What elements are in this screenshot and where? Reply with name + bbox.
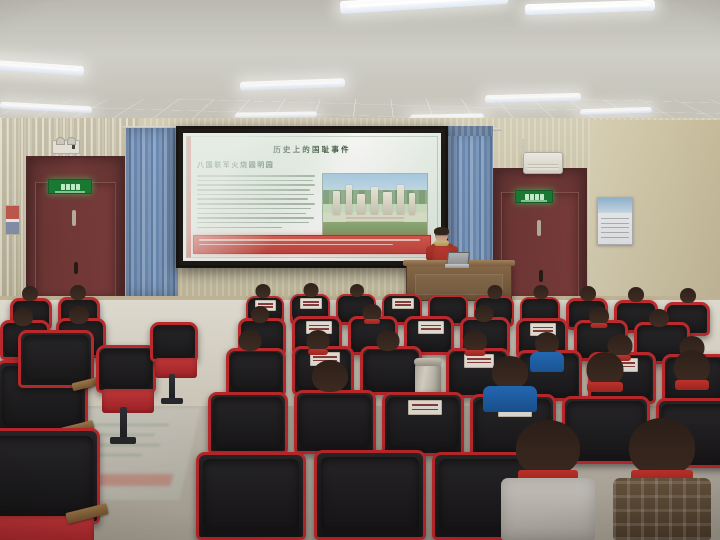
- framed-wall-notice: [597, 197, 633, 245]
- exit-sign-icon: [515, 190, 553, 203]
- door-handle[interactable]: [539, 270, 543, 282]
- student: [246, 306, 274, 332]
- presenter-arm-left: [426, 246, 433, 261]
- red-neckerchief: [587, 382, 623, 392]
- notice-text-line: [601, 223, 630, 224]
- seat-foot: [161, 398, 183, 404]
- student: [252, 284, 274, 306]
- student: [676, 288, 700, 312]
- window-curtain-left[interactable]: [126, 128, 178, 296]
- door-panel: [35, 182, 117, 299]
- exit-sign-icon: [48, 179, 92, 194]
- notice-text-line: [601, 227, 630, 228]
- red-neckerchief: [308, 349, 328, 355]
- reserved-seat-card: [408, 400, 442, 415]
- student: [664, 350, 720, 408]
- student-jacket-plaid: [613, 478, 711, 540]
- exit-sign-subtext: [521, 200, 547, 202]
- seat-foot: [110, 437, 136, 444]
- exit-sign-subtext: [55, 191, 85, 193]
- student: [530, 285, 552, 307]
- notice-header-image: [598, 198, 632, 213]
- thermos-cap: [414, 358, 442, 366]
- seat-side-panel: [155, 358, 197, 378]
- door-handle[interactable]: [74, 262, 78, 274]
- seat-leg: [169, 374, 175, 400]
- seat[interactable]: [382, 392, 464, 456]
- student: [302, 360, 358, 410]
- notice-text-line: [601, 218, 630, 219]
- laptop-base: [445, 264, 469, 268]
- ac-pipe: [522, 139, 525, 154]
- notice-text-line: [601, 237, 630, 238]
- student: [644, 309, 674, 339]
- exit-sign-glyphs: [525, 194, 544, 200]
- emergency-light-led: [72, 144, 75, 149]
- student: [18, 286, 42, 310]
- curtain-valance-right: [443, 126, 493, 136]
- student: [612, 418, 712, 540]
- student-jacket-blue: [483, 386, 537, 412]
- seat-side-panel: [102, 389, 154, 413]
- screen-glare: [183, 133, 441, 261]
- student: [470, 305, 498, 333]
- door-push-bar: [537, 220, 541, 236]
- student: [232, 330, 268, 364]
- seat-aisle-end[interactable]: [150, 322, 198, 362]
- seat[interactable]: [18, 330, 94, 388]
- presenter-hair: [434, 227, 449, 235]
- seat[interactable]: [196, 452, 306, 540]
- seat-leg: [120, 407, 127, 439]
- poster-top-band: [6, 206, 19, 219]
- red-neckerchief: [675, 380, 709, 390]
- ac-vent: [527, 164, 559, 170]
- reserved-seat-card: [418, 321, 444, 334]
- student: [300, 283, 322, 305]
- auditorium-photo-scene: 历史上的国耻事件 八国联军火烧圆明园: [0, 0, 720, 540]
- red-neckerchief: [591, 323, 608, 328]
- ceiling: [0, 0, 720, 136]
- emergency-light-icon: [52, 140, 80, 154]
- student: [300, 330, 336, 364]
- seat[interactable]: [0, 428, 100, 524]
- door-push-bar: [72, 210, 76, 226]
- presentation-slide: 历史上的国耻事件 八国联军火烧圆明园: [183, 133, 441, 261]
- air-conditioner-icon: [523, 152, 563, 174]
- student: [584, 307, 614, 337]
- red-neckerchief: [364, 319, 380, 324]
- seat[interactable]: [314, 450, 426, 540]
- ceiling-shading: [0, 0, 720, 136]
- poster-bottom-band: [6, 222, 19, 234]
- student: [370, 330, 406, 364]
- reserved-seat-card: [392, 298, 414, 309]
- student-jacket-silver: [501, 478, 595, 540]
- student: [500, 420, 596, 540]
- student: [482, 356, 538, 410]
- student: [358, 304, 386, 332]
- seat[interactable]: [208, 392, 288, 454]
- exit-sign-glyphs: [61, 184, 80, 190]
- student: [624, 287, 648, 311]
- projection-screen[interactable]: 历史上的国耻事件 八国联军火烧圆明园: [176, 126, 448, 268]
- small-wall-poster: [5, 205, 20, 235]
- presenter-laptop[interactable]: [445, 252, 469, 268]
- seat-aisle-end[interactable]: [96, 345, 156, 393]
- student: [346, 284, 368, 306]
- notice-text-line: [601, 232, 630, 233]
- student: [576, 352, 634, 410]
- student: [484, 285, 506, 307]
